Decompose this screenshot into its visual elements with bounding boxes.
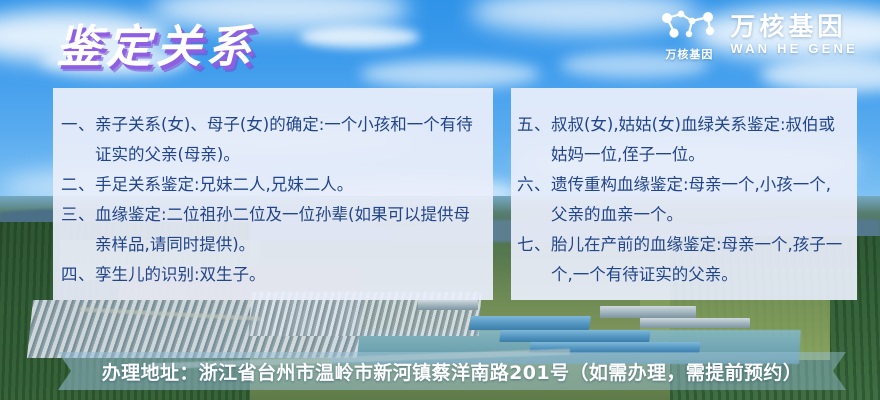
list-item-text: 胎儿在产前的血缘鉴定:母亲一个,孩子一个,一个有待证实的父亲。 xyxy=(551,230,847,290)
list-item-text: 血缘鉴定:二位祖孙二位及一位孙辈(如果可以提供母亲样品,请同时提供)。 xyxy=(95,200,479,260)
logo-mark-caption: 万核基因 xyxy=(665,46,713,62)
building xyxy=(469,316,591,330)
list-item-text: 亲子关系(女)、母子(女)的确定:一个小孩和一个有待证实的父亲(母亲)。 xyxy=(95,110,479,170)
brand-logo: 万核基因 万核基因 WAN HE GENE xyxy=(658,8,858,62)
logo-mark: 万核基因 xyxy=(658,8,720,62)
info-panel-right: 五、 叔叔(女),姑姑(女)血绿关系鉴定:叔伯或姑妈一位,侄子一位。 六、 遗传… xyxy=(511,88,857,300)
list-item: 六、 遗传重构血缘鉴定:母亲一个,小孩一个,父亲的血亲一个。 xyxy=(517,170,847,230)
list-item-number: 六、 xyxy=(517,170,551,200)
relationship-list-right: 五、 叔叔(女),姑姑(女)血绿关系鉴定:叔伯或姑妈一位,侄子一位。 六、 遗传… xyxy=(511,88,857,290)
list-item-number: 三、 xyxy=(61,200,95,230)
list-item-text: 遗传重构血缘鉴定:母亲一个,小孩一个,父亲的血亲一个。 xyxy=(551,170,847,230)
building xyxy=(640,318,750,328)
cloud-shape xyxy=(360,60,540,88)
list-item-text: 叔叔(女),姑姑(女)血绿关系鉴定:叔伯或姑妈一位,侄子一位。 xyxy=(551,110,847,170)
logo-name-cn: 万核基因 xyxy=(730,14,858,41)
logo-name-en: WAN HE GENE xyxy=(730,42,858,56)
banner-image: 鉴定关系 xyxy=(0,0,880,400)
list-item-number: 四、 xyxy=(61,260,95,290)
list-item-number: 一、 xyxy=(61,110,95,140)
logo-wordmark: 万核基因 WAN HE GENE xyxy=(730,14,858,56)
list-item-number: 五、 xyxy=(517,110,551,140)
address-text: 办理地址：浙江省台州市温岭市新河镇蔡洋南路201号（如需办理，需提前预约） xyxy=(102,358,802,385)
list-item: 二、 手足关系鉴定:兄妹二人,兄妹二人。 xyxy=(61,170,479,200)
list-item-number: 二、 xyxy=(61,170,95,200)
list-item-text: 孪生儿的识别:双生子。 xyxy=(95,260,479,290)
building xyxy=(499,330,651,342)
address-bar: 办理地址：浙江省台州市温岭市新河镇蔡洋南路201号（如需办理，需提前预约） xyxy=(58,352,846,390)
list-item: 四、 孪生儿的识别:双生子。 xyxy=(61,260,479,290)
cloud-shape xyxy=(760,58,880,92)
building xyxy=(600,306,696,318)
building xyxy=(418,300,478,310)
info-panel-left: 一、 亲子关系(女)、母子(女)的确定:一个小孩和一个有待证实的父亲(母亲)。 … xyxy=(53,88,493,300)
list-item-text: 手足关系鉴定:兄妹二人,兄妹二人。 xyxy=(95,170,479,200)
cloud-shape xyxy=(300,26,420,48)
list-item: 三、 血缘鉴定:二位祖孙二位及一位孙辈(如果可以提供母亲样品,请同时提供)。 xyxy=(61,200,479,260)
list-item: 七、 胎儿在产前的血缘鉴定:母亲一个,孩子一个,一个有待证实的父亲。 xyxy=(517,230,847,290)
page-title: 鉴定关系 xyxy=(56,10,256,75)
molecule-network-icon xyxy=(658,8,720,44)
list-item-number: 七、 xyxy=(517,230,551,260)
relationship-list-left: 一、 亲子关系(女)、母子(女)的确定:一个小孩和一个有待证实的父亲(母亲)。 … xyxy=(53,88,493,290)
list-item: 一、 亲子关系(女)、母子(女)的确定:一个小孩和一个有待证实的父亲(母亲)。 xyxy=(61,110,479,170)
list-item: 五、 叔叔(女),姑姑(女)血绿关系鉴定:叔伯或姑妈一位,侄子一位。 xyxy=(517,110,847,170)
